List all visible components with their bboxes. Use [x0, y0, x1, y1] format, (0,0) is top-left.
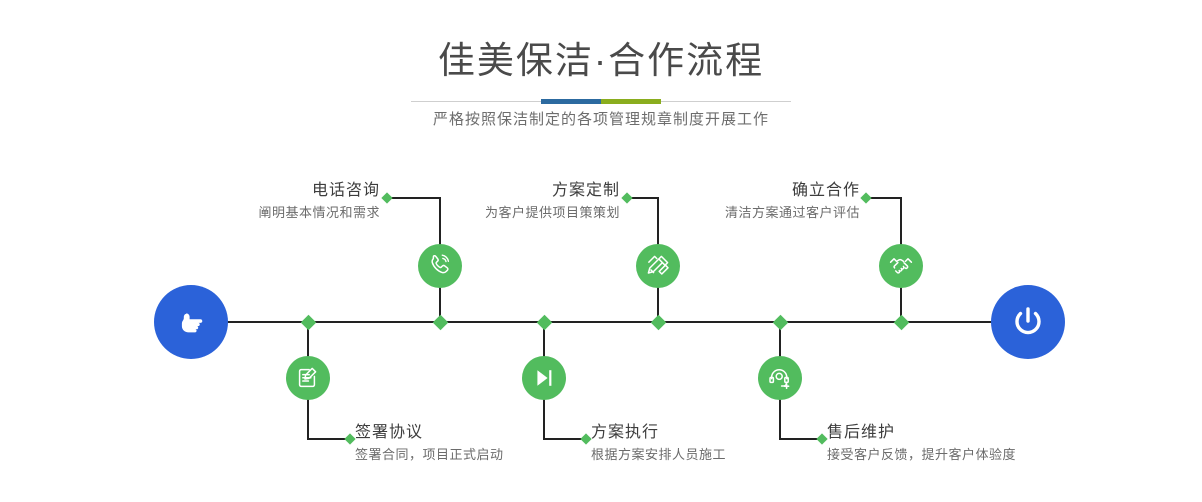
pencil-ruler-icon	[645, 253, 671, 279]
phone-call-icon	[427, 253, 453, 279]
flow-node-plan-custom[interactable]	[636, 244, 680, 288]
flow-node-sign-agreement[interactable]	[286, 356, 330, 400]
pointing-hand-icon	[173, 304, 209, 340]
process-flow-diagram: 电话咨询 阐明基本情况和需求 方案定制 为客户提供项目策策划	[0, 150, 1202, 502]
flow-node-after-sales[interactable]	[758, 356, 802, 400]
page-title: 佳美保洁·合作流程	[0, 38, 1202, 84]
flow-start-node[interactable]	[154, 285, 228, 359]
flow-label-after-sales: 售后维护 接受客户反馈，提升客户体验度	[827, 422, 1187, 466]
connector-bottom-1-spine-diamond	[300, 314, 316, 330]
play-execute-icon	[531, 365, 557, 391]
connector-top-1-spine-diamond	[432, 314, 448, 330]
connector-bottom-1-endpoint-diamond	[344, 433, 355, 444]
divider-segment-blue	[541, 99, 601, 104]
flow-label-title: 确立合作	[560, 180, 860, 202]
flow-label-desc: 清洁方案通过客户评估	[560, 202, 860, 224]
page-header: 佳美保洁·合作流程 严格按照保洁制定的各项管理规章制度开展工作	[0, 0, 1202, 150]
flow-node-phone-consult[interactable]	[418, 244, 462, 288]
connector-top-2-spine-diamond	[650, 314, 666, 330]
flow-label-desc: 接受客户反馈，提升客户体验度	[827, 444, 1187, 466]
connector-top-3-endpoint-diamond	[860, 192, 871, 203]
flow-node-execute-plan[interactable]	[522, 356, 566, 400]
divider-segment-green	[601, 99, 661, 104]
connector-top-3-spine-diamond	[893, 314, 909, 330]
handshake-icon	[888, 253, 914, 279]
title-divider	[411, 99, 791, 104]
flow-node-establish-cooperation[interactable]	[879, 244, 923, 288]
flow-end-node[interactable]	[991, 285, 1065, 359]
connector-bottom-2-spine-diamond	[536, 314, 552, 330]
flow-label-title: 售后维护	[827, 422, 1187, 444]
customer-support-icon	[767, 365, 793, 391]
page-subtitle: 严格按照保洁制定的各项管理规章制度开展工作	[0, 108, 1202, 132]
document-edit-icon	[295, 365, 321, 391]
flow-label-establish-cooperation: 确立合作 清洁方案通过客户评估	[560, 180, 860, 224]
connector-bottom-3-spine-diamond	[772, 314, 788, 330]
power-icon	[1008, 302, 1048, 342]
